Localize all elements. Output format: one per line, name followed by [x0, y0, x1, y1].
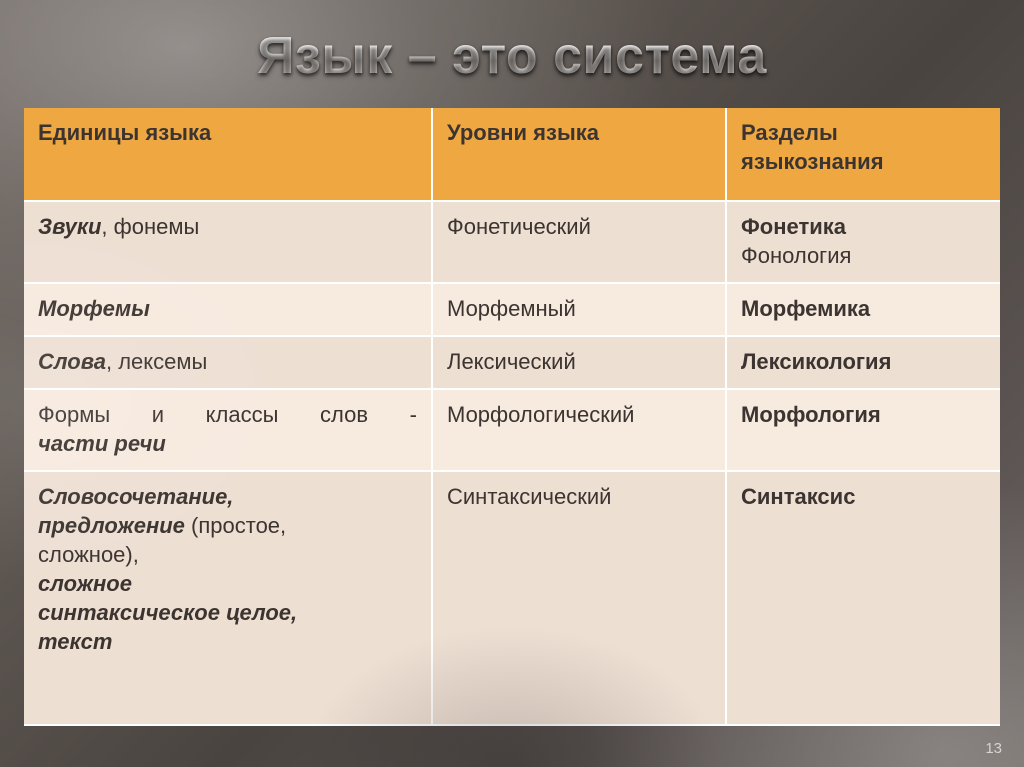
- units-line-5-5: синтаксическое целое,: [38, 598, 417, 627]
- cell-level-2: Морфемный: [432, 283, 726, 336]
- cell-units-3: Слова, лексемы: [24, 336, 432, 389]
- column-header-branches: Разделы языкознания: [726, 108, 1000, 201]
- units-plain-4: Формы и классы слов -: [38, 400, 417, 429]
- cell-branch-5: Синтаксис: [726, 471, 1000, 725]
- branch-second-1: Фонология: [741, 241, 986, 270]
- table-header: Единицы языка Уровни языка Разделы языко…: [24, 108, 1000, 201]
- cell-branch-1: Фонетика Фонология: [726, 201, 1000, 283]
- units-line-5-3: сложное),: [38, 540, 417, 569]
- cell-level-5: Синтаксический: [432, 471, 726, 725]
- page-number: 13: [985, 740, 1002, 757]
- units-extra-1: , фонемы: [101, 214, 199, 239]
- column-header-branches-label-2: языкознания: [741, 147, 986, 176]
- column-header-levels-label: Уровни языка: [447, 120, 599, 145]
- cell-level-1: Фонетический: [432, 201, 726, 283]
- level-label-4: Морфологический: [447, 402, 634, 427]
- units-line-5-4: сложное: [38, 569, 417, 598]
- table-row: Словосочетание, предложение (простое, сл…: [24, 471, 1000, 725]
- table-row: Слова, лексемы Лексический Лексикология: [24, 336, 1000, 389]
- level-label-5: Синтаксический: [447, 484, 611, 509]
- level-label-2: Морфемный: [447, 296, 576, 321]
- units-extra-3: , лексемы: [106, 349, 207, 374]
- branch-main-1: Фонетика: [741, 212, 986, 241]
- column-header-branches-label: Разделы: [741, 120, 838, 145]
- page-title: Язык – это система: [0, 26, 1024, 86]
- column-header-units: Единицы языка: [24, 108, 432, 201]
- units-line-5-1: Словосочетание,: [38, 482, 417, 511]
- branch-main-5: Синтаксис: [741, 482, 986, 511]
- branch-main-2: Морфемика: [741, 294, 986, 323]
- table-row: Формы и классы слов - части речи Морфоло…: [24, 389, 1000, 471]
- column-header-levels: Уровни языка: [432, 108, 726, 201]
- branch-main-3: Лексикология: [741, 347, 986, 376]
- units-line-5-2: предложение (простое,: [38, 511, 417, 540]
- units-term-5: предложение: [38, 513, 185, 538]
- table-header-row: Единицы языка Уровни языка Разделы языко…: [24, 108, 1000, 201]
- table-body: Звуки, фонемы Фонетический Фонетика Фоно…: [24, 201, 1000, 725]
- language-system-table: Единицы языка Уровни языка Разделы языко…: [24, 108, 1000, 726]
- units-extra-5: (простое,: [185, 513, 286, 538]
- cell-branch-3: Лексикология: [726, 336, 1000, 389]
- cell-branch-4: Морфология: [726, 389, 1000, 471]
- level-label-3: Лексический: [447, 349, 576, 374]
- cell-units-2: Морфемы: [24, 283, 432, 336]
- units-term-4: части речи: [38, 429, 417, 458]
- level-label-1: Фонетический: [447, 214, 591, 239]
- table-row: Звуки, фонемы Фонетический Фонетика Фоно…: [24, 201, 1000, 283]
- units-term-3: Слова: [38, 349, 106, 374]
- branch-main-4: Морфология: [741, 400, 986, 429]
- units-term-2: Морфемы: [38, 296, 150, 321]
- units-line-5-6: текст: [38, 627, 417, 656]
- column-header-units-label: Единицы языка: [38, 120, 211, 145]
- cell-level-3: Лексический: [432, 336, 726, 389]
- table-row: Морфемы Морфемный Морфемика: [24, 283, 1000, 336]
- slide-canvas: Язык – это система Единицы языка Уровни …: [0, 0, 1024, 767]
- cell-branch-2: Морфемика: [726, 283, 1000, 336]
- language-system-table-wrapper: Единицы языка Уровни языка Разделы языко…: [24, 108, 1000, 726]
- units-term-1: Звуки: [38, 214, 101, 239]
- cell-units-4: Формы и классы слов - части речи: [24, 389, 432, 471]
- cell-units-1: Звуки, фонемы: [24, 201, 432, 283]
- cell-level-4: Морфологический: [432, 389, 726, 471]
- cell-units-5: Словосочетание, предложение (простое, сл…: [24, 471, 432, 725]
